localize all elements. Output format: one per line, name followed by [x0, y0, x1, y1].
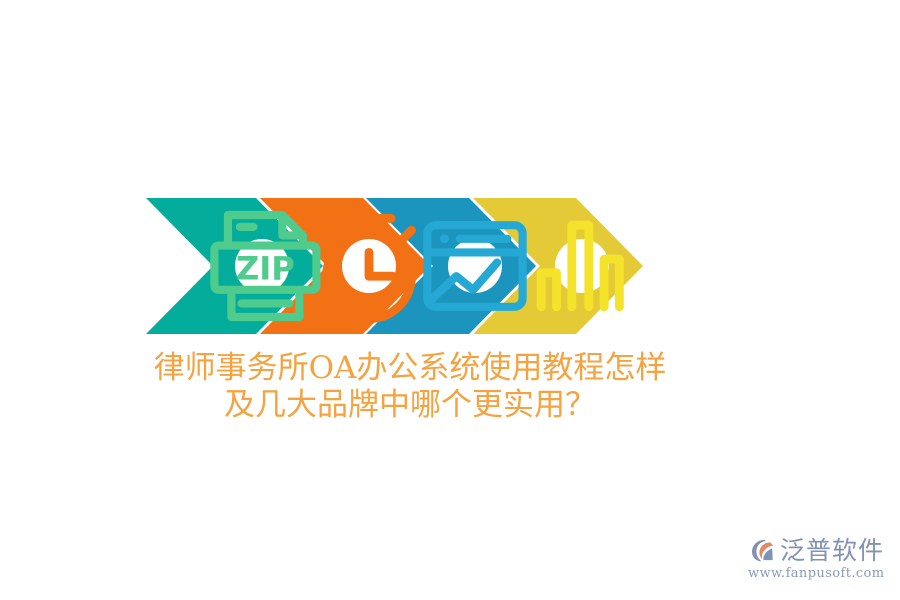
step-3-icon-badge [448, 239, 502, 293]
watermark-url: www.fanpusoft.com [748, 566, 884, 582]
fanpu-logo-icon [750, 537, 777, 564]
watermark-brand-name: 泛普软件 [780, 537, 884, 564]
step-4-icon-badge [555, 239, 609, 293]
zip-file-icon-label: ZIP [236, 250, 295, 288]
step-2-icon-badge [342, 239, 396, 293]
page-canvas: ZIP [0, 0, 900, 600]
page-title-line-1: 律师事务所OA办公系统使用教程怎样 [0, 350, 820, 387]
page-title: 律师事务所OA办公系统使用教程怎样 及几大品牌中哪个更实用？ [0, 350, 820, 424]
page-title-line-2: 及几大品牌中哪个更实用？ [0, 387, 820, 424]
step-1-icon-badge: ZIP [235, 239, 289, 293]
watermark-logo: 泛普软件 www.fanpusoft.com [748, 534, 884, 586]
watermark-brand-row: 泛普软件 [748, 534, 884, 566]
process-chevron-banner: ZIP [146, 198, 646, 334]
bar-chart-icon [514, 198, 650, 334]
